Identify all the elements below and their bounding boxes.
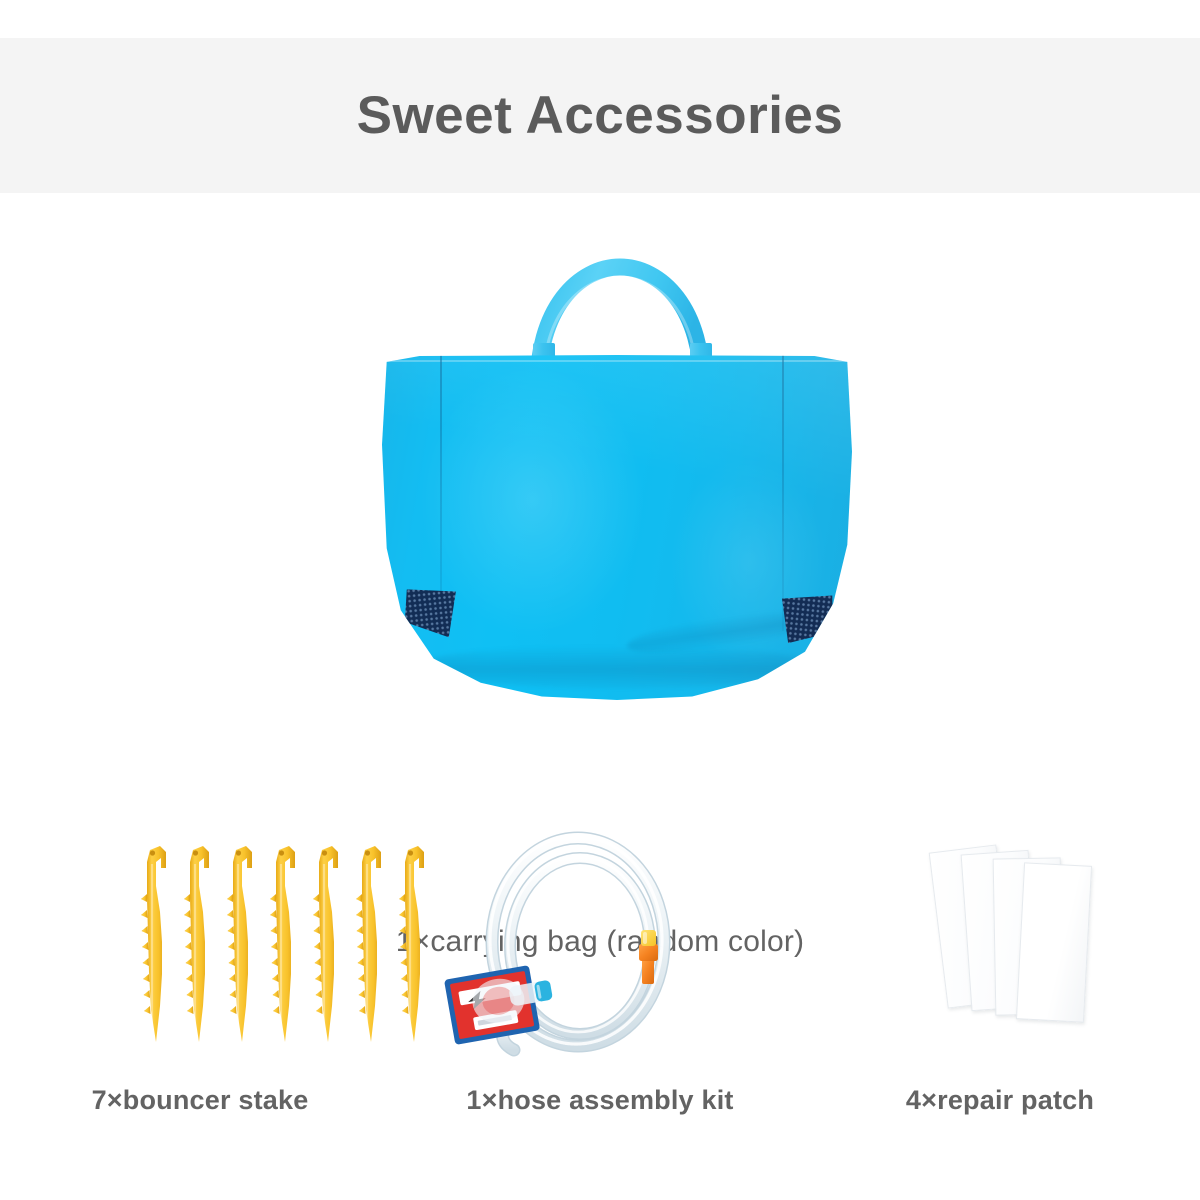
bag-bottom-crease: [410, 646, 824, 688]
hose-group: [428, 830, 758, 1070]
repair-patch-caption: 4×repair patch: [800, 1085, 1200, 1116]
bouncer-stake-caption: 7×bouncer stake: [0, 1085, 400, 1116]
repair-patch-image: [800, 830, 1200, 1070]
page-title: Sweet Accessories: [357, 85, 844, 146]
bouncer-stake-image: [0, 830, 400, 1070]
hose-assembly-kit-caption: 1×hose assembly kit: [400, 1085, 800, 1116]
stake-icon: [140, 842, 174, 1047]
carrying-bag-image: [370, 255, 860, 705]
stake-group: [140, 842, 440, 1062]
stake-icon: [269, 842, 303, 1047]
bag-body: [382, 355, 852, 700]
accessory-item-repair-patch: 4×repair patch: [800, 830, 1200, 1170]
accessory-item-hose-assembly-kit: 1×hose assembly kit: [400, 830, 800, 1170]
stake-icon: [183, 842, 217, 1047]
accessory-item-bouncer-stake: 7×bouncer stake: [0, 830, 400, 1170]
stake-icon: [226, 842, 260, 1047]
stake-icon: [355, 842, 389, 1047]
accessory-items-row: 7×bouncer stake: [0, 830, 1200, 1170]
title-banner: Sweet Accessories: [0, 38, 1200, 193]
repair-patch-item: [1016, 862, 1092, 1022]
patch-group: [910, 838, 1130, 1058]
hose-assembly-kit-image: [400, 830, 800, 1070]
hose-coil-icon: [428, 830, 758, 1070]
carrying-bag-section: 1×carrying bag (random color): [0, 200, 1200, 800]
stake-icon: [312, 842, 346, 1047]
